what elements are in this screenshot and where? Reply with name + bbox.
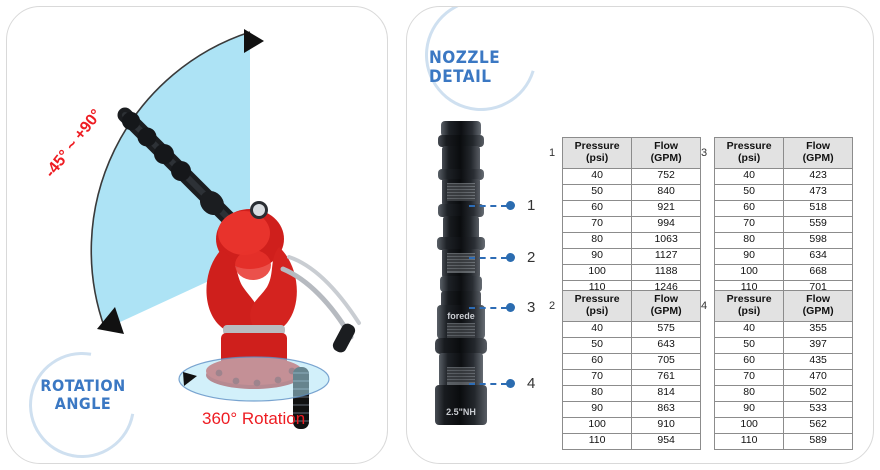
table-row: 60435 [715,353,853,369]
callout-dot [506,201,515,210]
table-row: 901127 [563,248,701,264]
flow-table: Pressure(psi)Flow(GPM)404235047360518705… [714,137,853,297]
rotation-360-label: 360° Rotation [202,409,305,429]
table-row: 801063 [563,232,701,248]
table-row: 110589 [715,433,853,449]
flow-table-index: 2 [549,300,555,312]
cell-pressure: 80 [563,232,632,248]
cell-flow: 562 [784,417,853,433]
nozzle-thread-text: 2.5"NH [446,407,476,417]
flow-table-block-1: 1Pressure(psi)Flow(GPM)40752508406092170… [549,137,701,297]
table-row: 50397 [715,337,853,353]
cell-pressure: 40 [563,321,632,337]
table-row: 110954 [563,433,701,449]
callout-leader-line [469,257,507,259]
table-row: 60518 [715,200,853,216]
column-header-flow: Flow(GPM) [784,291,853,322]
table-row: 80598 [715,232,853,248]
cell-flow: 435 [784,353,853,369]
badge-line-2: ANGLE [55,394,112,413]
table-row: 50643 [563,337,701,353]
table-row: 100668 [715,264,853,280]
callout-number: 1 [527,197,535,214]
cell-pressure: 50 [715,337,784,353]
cell-flow: 559 [784,216,853,232]
table-row: 70761 [563,369,701,385]
cell-pressure: 60 [563,200,632,216]
flow-table-block-2: 2Pressure(psi)Flow(GPM)40575506436070570… [549,290,701,450]
table-row: 90863 [563,401,701,417]
callout-number: 2 [527,249,535,266]
cell-flow: 423 [784,168,853,184]
flow-table-block-4: 4Pressure(psi)Flow(GPM)40355503976043570… [701,290,853,450]
cell-pressure: 50 [563,184,632,200]
cell-pressure: 100 [563,264,632,280]
table-row: 90634 [715,248,853,264]
nozzle-detail-title: NOZZLE DETAIL [429,49,557,87]
table-row: 60705 [563,353,701,369]
table-row: 90533 [715,401,853,417]
cell-pressure: 110 [715,433,784,449]
cell-pressure: 100 [715,417,784,433]
flow-table: Pressure(psi)Flow(GPM)403555039760435704… [714,290,853,450]
cell-pressure: 100 [715,264,784,280]
cell-flow: 533 [784,401,853,417]
cell-pressure: 90 [715,401,784,417]
table-row: 100562 [715,417,853,433]
column-header-pressure: Pressure(psi) [563,138,632,169]
flow-table-block-3: 3Pressure(psi)Flow(GPM)40423504736051870… [701,137,853,297]
callout-dot [506,303,515,312]
cell-flow: 598 [784,232,853,248]
cell-flow: 470 [784,369,853,385]
callout-1: 1 [469,197,535,214]
cell-flow: 355 [784,321,853,337]
nozzle-detail-panel: NOZZLE DETAIL [406,6,874,464]
arc-arrow-top [244,29,264,53]
cell-pressure: 40 [563,168,632,184]
column-header-flow: Flow(GPM) [784,138,853,169]
flow-table: Pressure(psi)Flow(GPM)405755064360705707… [562,290,701,450]
cell-flow: 668 [784,264,853,280]
cell-flow: 752 [632,168,701,184]
cell-flow: 761 [632,369,701,385]
cell-flow: 397 [784,337,853,353]
flow-table-index: 3 [701,147,707,159]
table-row: 80502 [715,385,853,401]
callout-3: 3 [469,299,535,316]
table-header-row: Pressure(psi)Flow(GPM) [563,291,701,322]
cell-pressure: 40 [715,168,784,184]
column-header-flow: Flow(GPM) [632,291,701,322]
cell-flow: 643 [632,337,701,353]
flow-table-index: 1 [549,147,555,159]
cell-pressure: 50 [563,337,632,353]
table-row: 50473 [715,184,853,200]
cell-flow: 502 [784,385,853,401]
table-row: 70470 [715,369,853,385]
cell-pressure: 80 [563,385,632,401]
column-header-pressure: Pressure(psi) [715,138,784,169]
column-header-pressure: Pressure(psi) [563,291,632,322]
table-row: 40355 [715,321,853,337]
cell-flow: 840 [632,184,701,200]
cell-flow: 705 [632,353,701,369]
cell-pressure: 90 [715,248,784,264]
cell-flow: 1127 [632,248,701,264]
table-row: 100910 [563,417,701,433]
cell-flow: 634 [784,248,853,264]
callout-dot [506,379,515,388]
table-row: 40575 [563,321,701,337]
cell-pressure: 80 [715,232,784,248]
cell-pressure: 70 [563,369,632,385]
flow-table-index: 4 [701,300,707,312]
table-row: 70994 [563,216,701,232]
cell-flow: 473 [784,184,853,200]
cell-pressure: 60 [563,353,632,369]
cell-pressure: 90 [563,401,632,417]
callout-leader-line [469,383,507,385]
table-header-row: Pressure(psi)Flow(GPM) [563,138,701,169]
table-header-row: Pressure(psi)Flow(GPM) [715,291,853,322]
rotation-angle-badge-text: ROTATION ANGLE [37,377,129,413]
table-row: 70559 [715,216,853,232]
column-header-pressure: Pressure(psi) [715,291,784,322]
cell-flow: 575 [632,321,701,337]
table-header-row: Pressure(psi)Flow(GPM) [715,138,853,169]
cell-flow: 1188 [632,264,701,280]
table-row: 40752 [563,168,701,184]
callout-leader-line [469,205,507,207]
callout-number: 4 [527,375,535,392]
table-row: 1001188 [563,264,701,280]
rotation-angle-panel: -45° ~ +90° 360° Rotation ROTATION ANGLE [6,6,388,464]
callout-4: 4 [469,375,535,392]
cell-pressure: 110 [563,433,632,449]
flow-table: Pressure(psi)Flow(GPM)407525084060921709… [562,137,701,297]
callout-number: 3 [527,299,535,316]
callout-leader-line [469,307,507,309]
cell-flow: 863 [632,401,701,417]
table-row: 80814 [563,385,701,401]
cell-flow: 814 [632,385,701,401]
cell-flow: 589 [784,433,853,449]
cell-pressure: 60 [715,353,784,369]
column-header-flow: Flow(GPM) [632,138,701,169]
cell-pressure: 60 [715,200,784,216]
table-row: 60921 [563,200,701,216]
callout-2: 2 [469,249,535,266]
cell-pressure: 70 [563,216,632,232]
cell-flow: 910 [632,417,701,433]
cell-pressure: 70 [715,216,784,232]
table-row: 50840 [563,184,701,200]
table-row: 40423 [715,168,853,184]
cell-flow: 518 [784,200,853,216]
cell-pressure: 40 [715,321,784,337]
cell-pressure: 80 [715,385,784,401]
badge-line-1: ROTATION [40,376,125,395]
cell-flow: 954 [632,433,701,449]
cell-pressure: 90 [563,248,632,264]
callout-dot [506,253,515,262]
cell-flow: 994 [632,216,701,232]
cell-flow: 921 [632,200,701,216]
cell-pressure: 100 [563,417,632,433]
cell-pressure: 50 [715,184,784,200]
cell-pressure: 70 [715,369,784,385]
cell-flow: 1063 [632,232,701,248]
